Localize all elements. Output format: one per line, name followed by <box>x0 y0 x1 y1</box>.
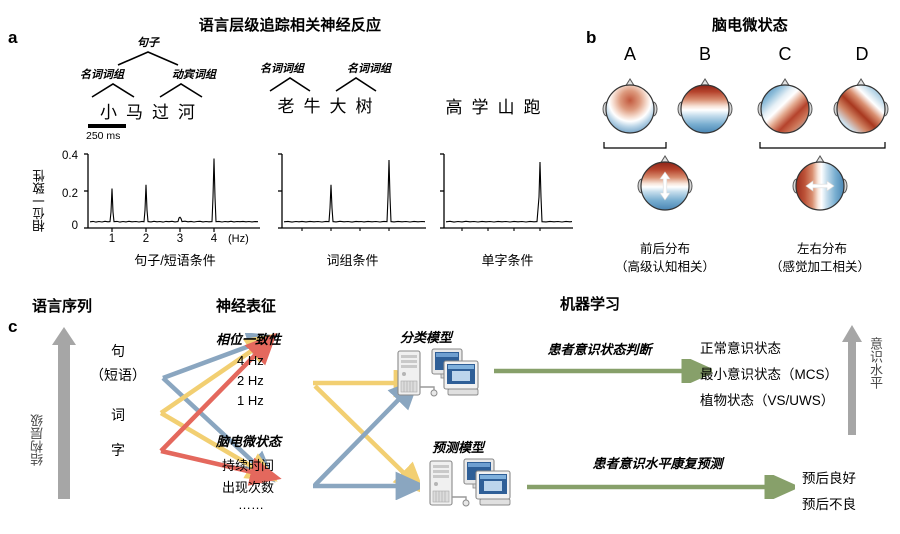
tree-2-char-1: 牛 <box>300 92 326 117</box>
topomap-C <box>758 79 812 133</box>
condition-label-2: 词组条件 <box>280 250 425 269</box>
panel-a-letter: a <box>8 28 17 48</box>
heading-machine-learning: 机器学习 <box>560 293 620 314</box>
hierarchy-arrow-icon <box>50 327 90 502</box>
topomap-D <box>834 79 888 133</box>
outcome-top-0: 正常意识状态 <box>700 337 781 357</box>
tree-2-char-0: 老 <box>274 92 300 117</box>
heading-language: 语言序列 <box>32 295 92 316</box>
consciousness-axis-label: 意识水平 <box>866 337 885 417</box>
panel-b: b 脑电微状态 A B C D <box>580 0 900 285</box>
topomap-A <box>603 79 657 133</box>
heading-neural: 神经表征 <box>216 295 276 316</box>
computer-icon-classification <box>396 345 482 405</box>
tree-1-char-0: 小 <box>96 98 122 123</box>
group-caption-2-line1: 左右分布 <box>762 238 882 257</box>
condition-label-1: 句子/短语条件 <box>90 250 260 269</box>
tree-1-mid-label-0: 名词词组 <box>80 66 124 82</box>
model-0-title: 分类模型 <box>400 327 452 346</box>
tree-1-top-branch <box>78 50 218 66</box>
tree-1-char-2: 过 <box>148 98 174 123</box>
neural-block-0-item-1: 2 Hz <box>237 373 264 388</box>
arrow-label-classification: 患者意识状态判断 <box>492 339 707 358</box>
computer-icon-prediction <box>428 455 514 515</box>
x-tick-3: 3 <box>171 233 189 245</box>
panel-a: a 语言层级追踪相关神经反应 句子 名词词组 动宾词组 小马过河 250 ms … <box>0 0 580 285</box>
spectrum-plot-3 <box>440 152 575 234</box>
panel-a-y-axis-label: 相位一致性 <box>30 152 49 232</box>
y-tick-1: 0.2 <box>52 188 78 200</box>
condition-label-3: 单字条件 <box>440 250 575 269</box>
green-arrow-prediction <box>525 475 795 499</box>
hierarchy-level-1: 词 <box>92 405 144 425</box>
map-label-A: A <box>610 44 650 65</box>
outcome-bottom-0: 预后良好 <box>802 467 856 487</box>
tree-3-chars: 高学山跑 <box>422 93 572 118</box>
green-arrow-classification <box>492 359 712 383</box>
tree-2-mid-label-1: 名词词组 <box>347 60 391 76</box>
map-label-C: C <box>765 44 805 65</box>
outcome-top-1: 最小意识状态（MCS） <box>700 363 838 383</box>
panel-c-letter: c <box>8 317 17 337</box>
tree-2-char-3: 树 <box>352 92 378 117</box>
group-caption-2-line2: （感觉加工相关） <box>745 256 895 275</box>
tree-1-top-label: 句子 <box>78 34 218 50</box>
x-tick-1: 1 <box>103 233 121 245</box>
tree-1-char-3: 河 <box>174 98 200 123</box>
neural-block-1-item-2: …… <box>238 497 264 512</box>
x-tick-2: 2 <box>137 233 155 245</box>
neural-block-1-item-1: 出现次数 <box>222 477 274 496</box>
map-label-B: B <box>685 44 725 65</box>
scale-bar-label: 250 ms <box>86 130 120 142</box>
tree-3-char-3: 跑 <box>523 93 549 118</box>
hierarchy-level-0b: （短语） <box>82 365 154 385</box>
tree-1-mid-label-1: 动宾词组 <box>172 66 216 82</box>
spectrum-plot-2 <box>278 152 428 234</box>
tree-2-chars: 老牛大树 <box>258 92 393 117</box>
tree-1-chars: 小马过河 <box>78 98 218 123</box>
panel-c: c 语言序列 神经表征 机器学习 结构层级 句 （短语） 词 字 <box>0 285 900 534</box>
brace-left <box>604 142 666 148</box>
panel-b-title: 脑电微状态 <box>640 14 860 35</box>
x-tick-4: 4 <box>205 233 223 245</box>
map-label-D: D <box>842 44 882 65</box>
panel-a-title: 语言层级追踪相关神经反应 <box>90 14 490 35</box>
spectrum-plot-1 <box>84 152 262 234</box>
x-unit-label: (Hz) <box>228 233 249 245</box>
neural-block-1-item-0: 持续时间 <box>222 455 274 474</box>
scale-bar <box>88 124 126 128</box>
y-tick-0: 0.4 <box>52 150 78 162</box>
outcome-top-2: 植物状态（VS/UWS） <box>700 389 834 409</box>
topomap-B <box>678 79 732 133</box>
tree-3-char-1: 学 <box>471 93 497 118</box>
tree-2-mid-label-0: 名词词组 <box>260 60 304 76</box>
syntax-tree-2: 名词词组 名词词组 老牛大树 <box>258 60 393 117</box>
brace-right <box>760 142 885 148</box>
y-tick-2: 0 <box>52 220 78 232</box>
neural-block-0-title: 相位一致性 <box>216 329 281 348</box>
neural-block-0-item-2: 1 Hz <box>237 393 264 408</box>
hierarchy-axis-label: 结构层级 <box>28 380 47 466</box>
tree-3-char-0: 高 <box>445 93 471 118</box>
hierarchy-level-2: 字 <box>92 440 144 460</box>
neural-block-0-item-0: 4 Hz <box>237 353 264 368</box>
hierarchy-level-0: 句 <box>92 341 144 361</box>
syntax-tree-3: 高学山跑 <box>422 93 572 118</box>
tree-2-branches <box>258 76 393 92</box>
group-caption-1-line2: （高级认知相关） <box>590 256 740 275</box>
outcome-bottom-1: 预后不良 <box>802 493 856 513</box>
topomap-summary-anterior-posterior <box>638 156 692 210</box>
tree-2-char-2: 大 <box>326 92 352 117</box>
arrow-label-prediction: 患者意识水平康复预测 <box>525 453 790 472</box>
topomap-summary-left-right <box>793 156 847 210</box>
syntax-tree-1: 句子 名词词组 动宾词组 小马过河 <box>78 34 218 123</box>
tree-3-char-2: 山 <box>497 93 523 118</box>
group-caption-1-line1: 前后分布 <box>605 238 725 257</box>
panel-b-letter: b <box>586 28 596 48</box>
model-1-title: 预测模型 <box>432 437 484 456</box>
tree-1-lower-branches <box>78 82 218 98</box>
neural-block-1-title: 脑电微状态 <box>216 431 281 450</box>
tree-1-char-1: 马 <box>122 98 148 123</box>
